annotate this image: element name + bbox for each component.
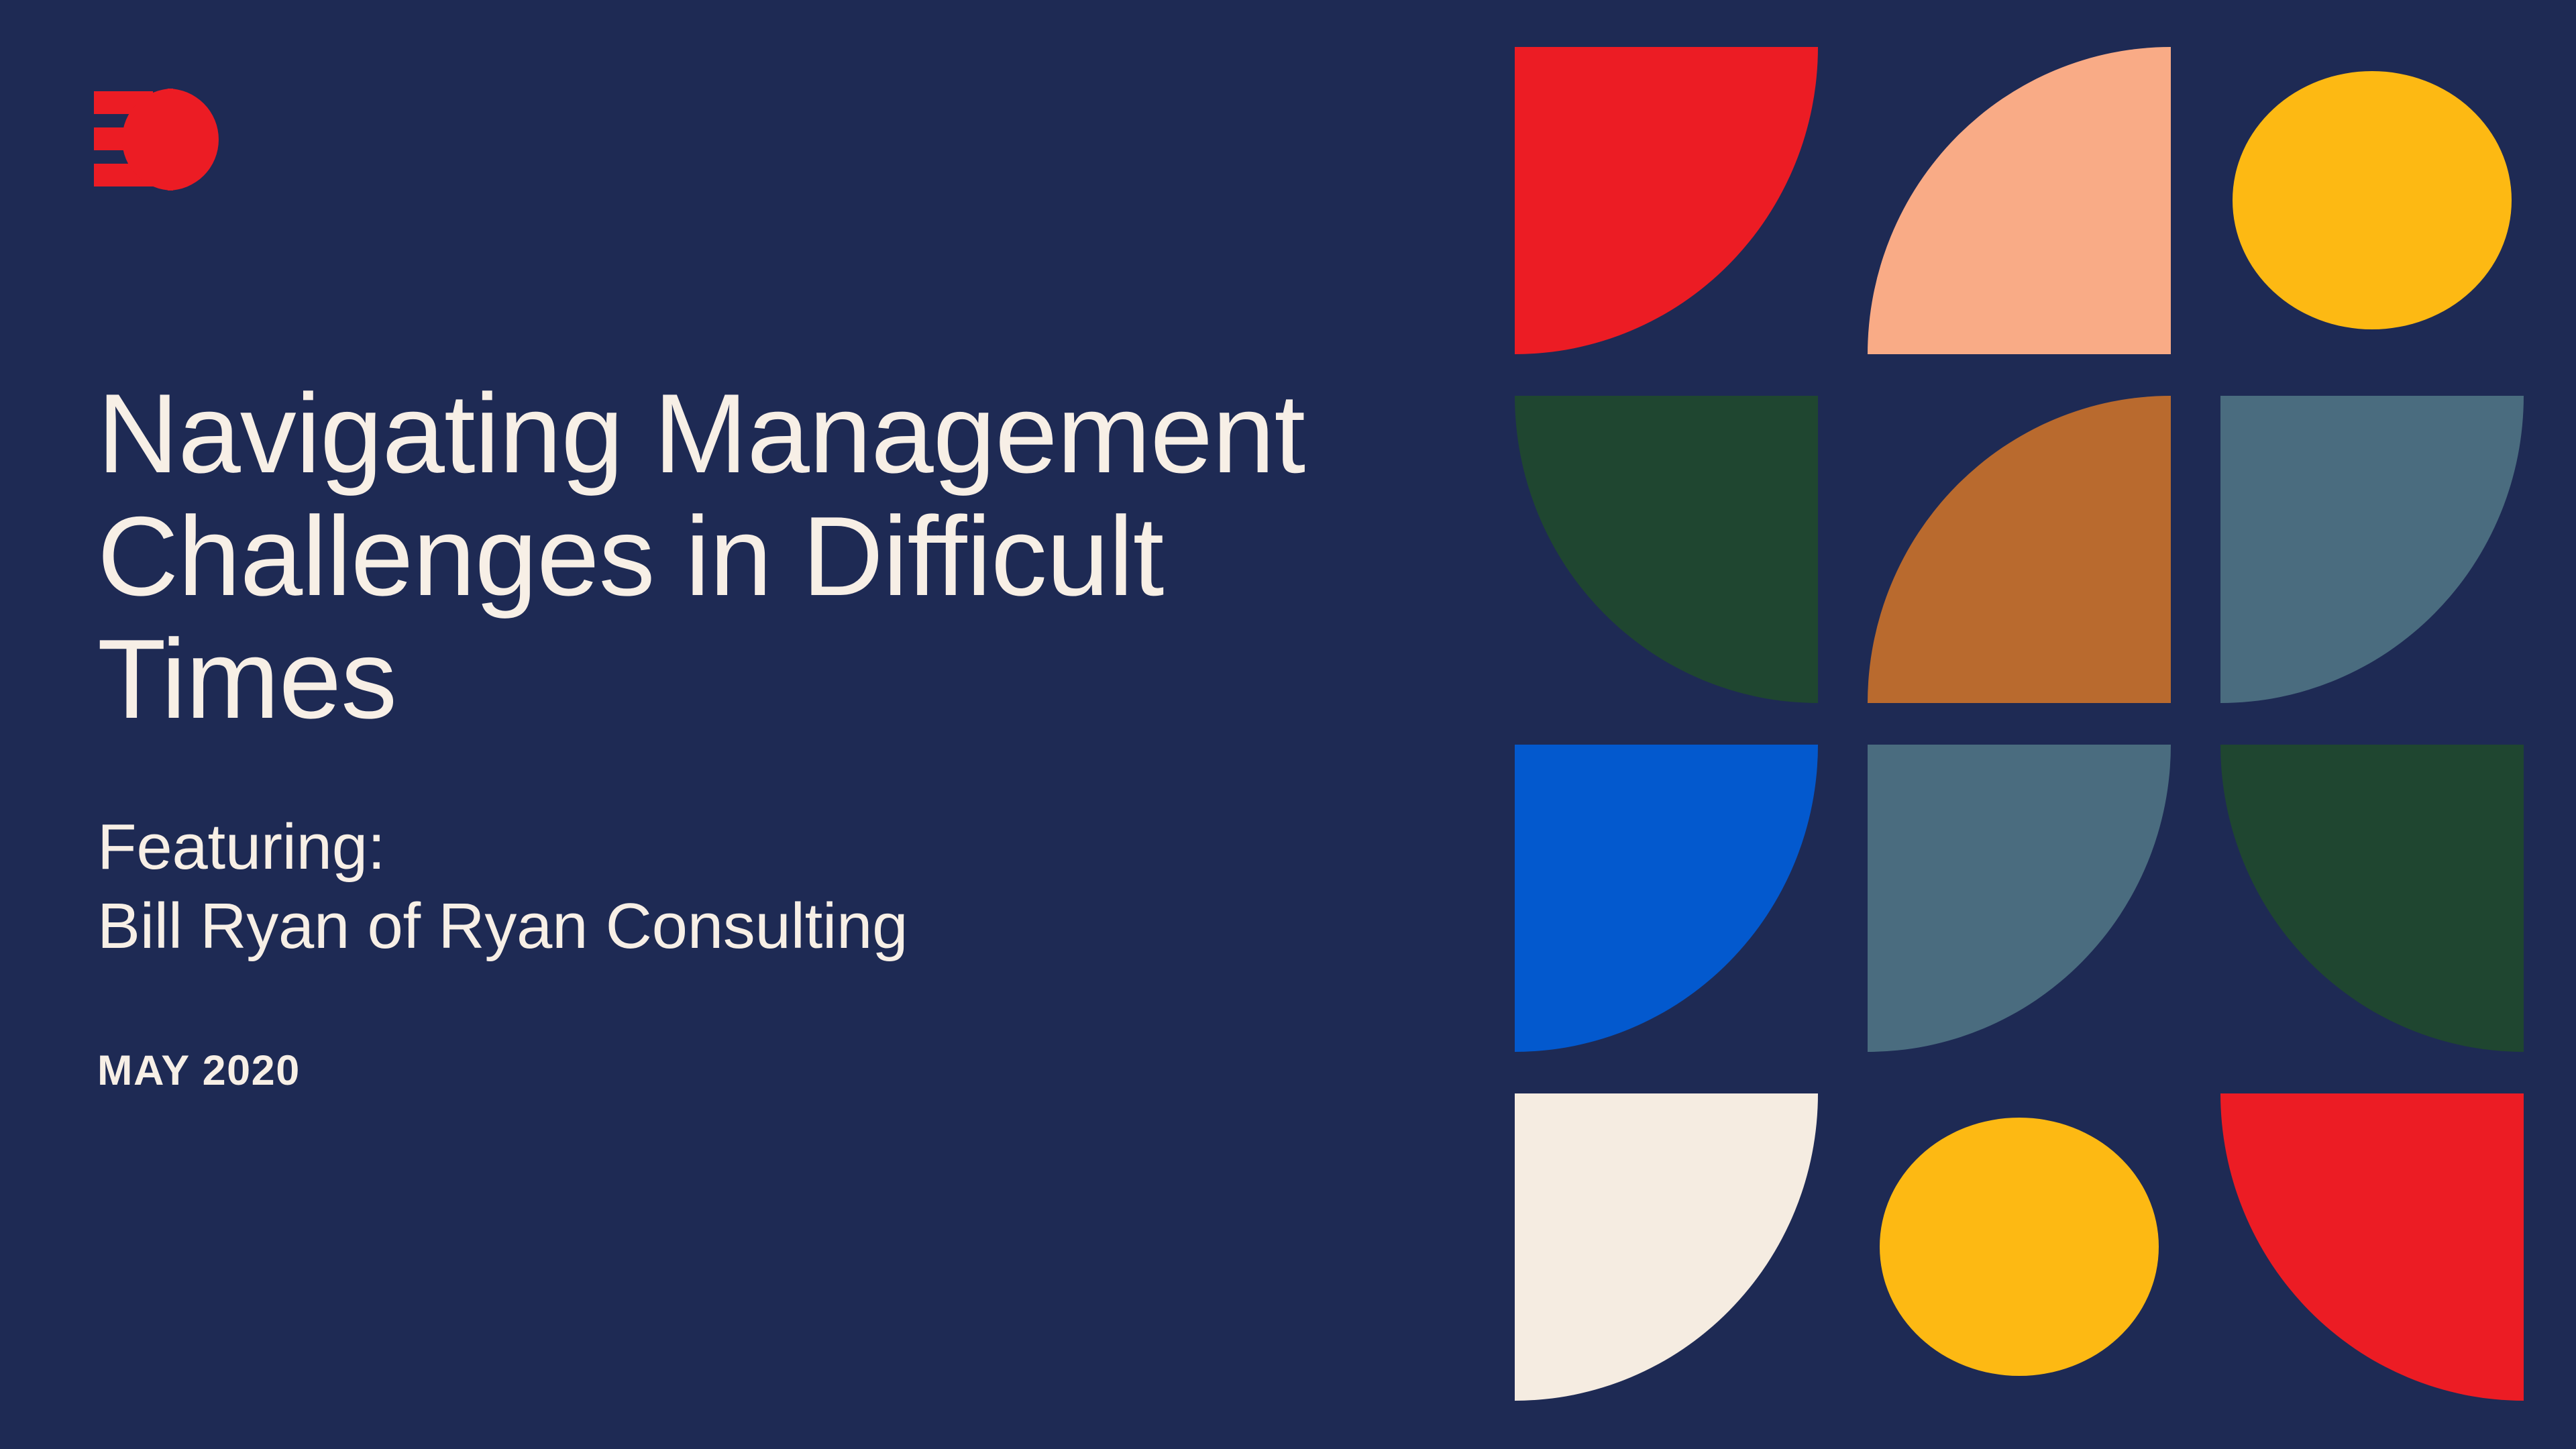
quarter-circle-icon — [2220, 396, 2524, 703]
pattern-tile-r4c3 — [2220, 1093, 2524, 1401]
pattern-tile-r2c1 — [1515, 396, 1818, 703]
circle-icon — [1880, 1118, 2159, 1376]
quarter-circle-icon — [1515, 1093, 1818, 1401]
geometric-pattern — [1515, 47, 2524, 1414]
featuring-label: Featuring: — [97, 808, 1472, 887]
pattern-tile-r1c1 — [1515, 47, 1818, 354]
pattern-tile-r3c3 — [2220, 745, 2524, 1052]
quarter-circle-icon — [1868, 745, 2171, 1052]
quarter-circle-icon — [1515, 47, 1818, 354]
pattern-tile-r4c2 — [1868, 1093, 2171, 1401]
slide-date: MAY 2020 — [97, 1046, 1472, 1095]
pattern-tile-r3c2 — [1868, 745, 2171, 1052]
quarter-circle-icon — [2220, 1093, 2524, 1401]
quarter-circle-icon — [1515, 396, 1818, 703]
featuring-block: Featuring: Bill Ryan of Ryan Consulting — [97, 808, 1472, 966]
pattern-tile-r4c1 — [1515, 1093, 1818, 1401]
presenter-name: Bill Ryan of Ryan Consulting — [97, 887, 1472, 966]
quarter-circle-icon — [2220, 745, 2524, 1052]
pattern-tile-r2c2 — [1868, 396, 2171, 703]
title-slide: Navigating Management Challenges in Diff… — [0, 0, 2576, 1449]
slide-text-block: Navigating Management Challenges in Diff… — [97, 372, 1472, 1095]
page-title: Navigating Management Challenges in Diff… — [97, 372, 1432, 741]
quarter-circle-icon — [1515, 745, 1818, 1052]
pattern-tile-r2c3 — [2220, 396, 2524, 703]
quarter-circle-icon — [1868, 396, 2171, 703]
circle-icon — [2233, 71, 2512, 329]
pattern-tile-r3c1 — [1515, 745, 1818, 1052]
eo-logo — [94, 87, 241, 195]
quarter-circle-icon — [1868, 47, 2171, 354]
pattern-tile-r1c3 — [2220, 47, 2524, 354]
pattern-tile-r1c2 — [1868, 47, 2171, 354]
